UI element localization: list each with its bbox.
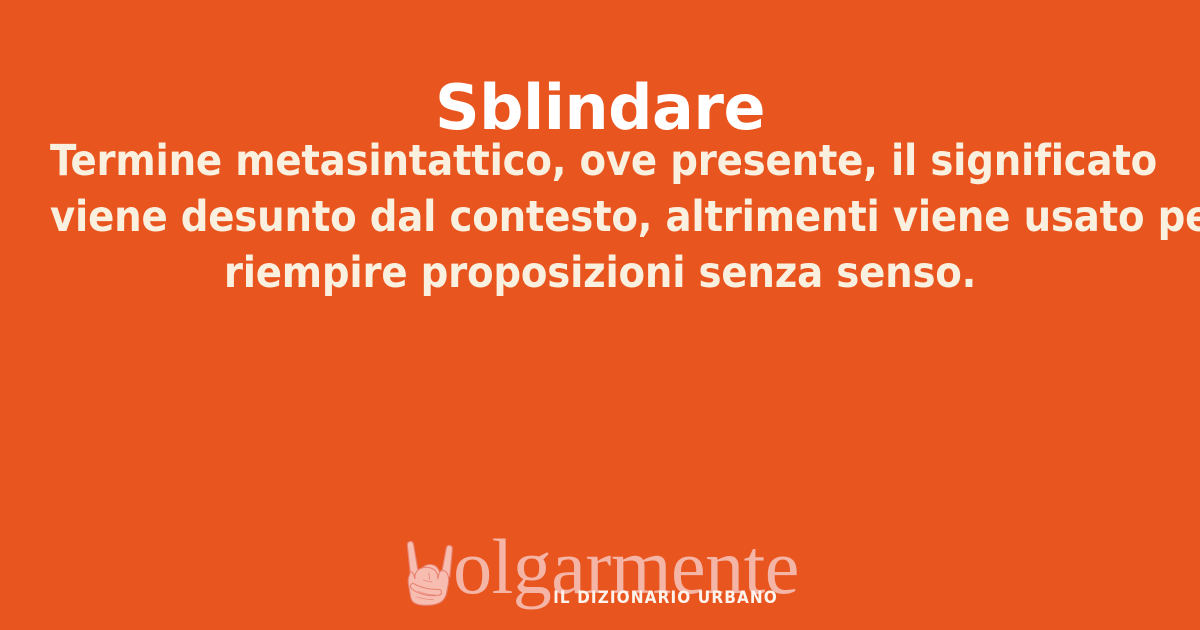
- definition-text: Termine metasintattico, ove presente, il…: [50, 133, 1150, 301]
- rock-horns-hand-icon: [401, 536, 459, 608]
- logo-tagline: IL DIZIONARIO URBANO: [553, 590, 778, 607]
- definition-line: riempire proposizioni senza senso.: [50, 245, 1150, 301]
- definition-line: viene desunto dal contesto, altrimenti v…: [50, 189, 1150, 245]
- definition-line: Termine metasintattico, ove presente, il…: [50, 133, 1150, 189]
- logo-lockup: olgarmente IL DIZIONARIO URBANO: [401, 524, 799, 610]
- definition-card: Sblindare Termine metasintattico, ove pr…: [0, 0, 1200, 630]
- site-logo[interactable]: olgarmente IL DIZIONARIO URBANO: [0, 524, 1200, 610]
